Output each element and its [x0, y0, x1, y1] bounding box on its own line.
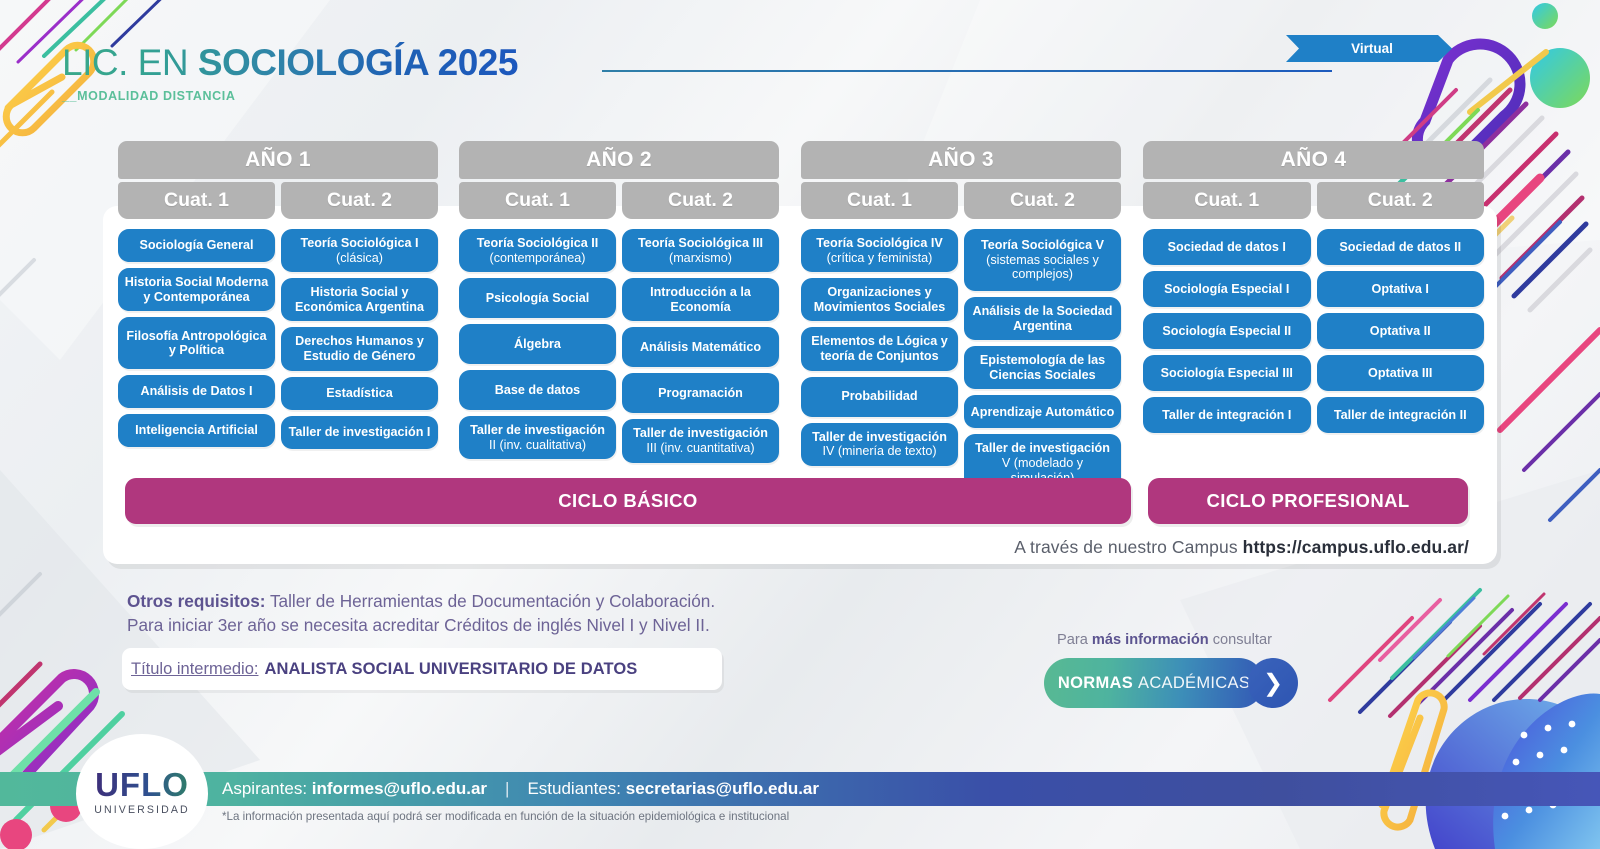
subject-sub: (contemporánea) — [477, 251, 599, 266]
subject-main: Teoría Sociológica V — [981, 238, 1104, 252]
subject-main: Introducción a la Economía — [650, 285, 751, 314]
subject-sub: IV (minería de texto) — [812, 444, 947, 459]
footer-separator: | — [487, 779, 527, 799]
semester-columns-1: Sociología General Historia Social Moder… — [118, 229, 438, 449]
semester-header-1-2: Cuat. 2 — [281, 182, 438, 219]
year-column-3: AÑO 3 Cuat. 1 Cuat. 2 Teoría Sociológica… — [801, 141, 1121, 492]
semester-header-4-1: Cuat. 1 — [1143, 182, 1311, 219]
intermediate-degree-box: Título intermedio:ANALISTA SOCIAL UNIVER… — [122, 648, 722, 690]
subject-sub: (sistemas sociales y complejos) — [970, 253, 1115, 282]
uflo-logo: UFLO UNIVERSIDAD — [76, 734, 208, 849]
subject-main: Taller de investigación — [633, 426, 768, 440]
semester-header-3-1: Cuat. 1 — [801, 182, 958, 219]
subject-main: Inteligencia Artificial — [135, 423, 258, 437]
subject-box[interactable]: Teoría Sociológica IV(crítica y feminist… — [801, 229, 958, 272]
uflo-logo-main: UFLO — [95, 768, 189, 801]
virtual-badge-label: Virtual — [1286, 35, 1452, 62]
subject-box[interactable]: Análisis de Datos I — [118, 375, 275, 408]
subject-main: Optativa III — [1368, 366, 1432, 380]
subject-main: Derechos Humanos y Estudio de Género — [295, 334, 424, 363]
subject-box[interactable]: Sociología Especial I — [1143, 271, 1311, 307]
subject-box[interactable]: Optativa II — [1317, 313, 1485, 349]
subject-main: Sociedad de datos I — [1168, 240, 1286, 254]
requirements-label: Otros requisitos: — [127, 591, 265, 611]
subject-box[interactable]: Estadística — [281, 377, 438, 410]
semester-column-1-2: Teoría Sociológica I(clásica) Historia S… — [281, 229, 438, 449]
more-info-post: consultar — [1209, 632, 1272, 648]
semester-column-3-2: Teoría Sociológica V(sistemas sociales y… — [964, 229, 1121, 492]
poster-canvas: LIC. EN SOCIOLOGÍA 2025 __MODALIDAD DIST… — [0, 0, 1600, 849]
subject-box[interactable]: Psicología Social — [459, 278, 616, 318]
subject-main: Análisis de la Sociedad Argentina — [973, 304, 1113, 333]
semester-column-4-2: Sociedad de datos II Optativa I Optativa… — [1317, 229, 1485, 433]
page-title: LIC. EN SOCIOLOGÍA 2025 — [62, 42, 518, 84]
subject-main: Sociología Especial I — [1164, 282, 1289, 296]
year-title-1: AÑO 1 — [118, 141, 438, 179]
footer-estudiantes-mail[interactable]: secretarias@uflo.edu.ar — [626, 779, 819, 798]
chevron-right-icon[interactable]: ❯ — [1248, 658, 1298, 708]
campus-line: A través de nuestro Campus https://campu… — [0, 537, 1469, 558]
subject-box[interactable]: Análisis de la Sociedad Argentina — [964, 297, 1121, 340]
requirements-block: Otros requisitos: Taller de Herramientas… — [127, 590, 715, 637]
subject-main: Taller de investigación I — [289, 425, 431, 439]
virtual-badge: Virtual — [1286, 35, 1452, 62]
subject-main: Álgebra — [514, 337, 561, 351]
subject-box[interactable]: Sociedad de datos I — [1143, 229, 1311, 265]
year-column-4: AÑO 4 Cuat. 1 Cuat. 2 Sociedad de datos … — [1143, 141, 1484, 433]
subject-box[interactable]: Organizaciones y Movimientos Sociales — [801, 278, 958, 321]
year-title-2: AÑO 2 — [459, 141, 779, 179]
semester-header-1-1: Cuat. 1 — [118, 182, 275, 219]
title-bold: SOCIOLOGÍA 2025 — [198, 42, 518, 83]
subject-box[interactable]: Optativa III — [1317, 355, 1485, 391]
subject-main: Sociología Especial II — [1162, 324, 1291, 338]
academic-rules-bold: NORMAS — [1058, 674, 1133, 693]
subject-main: Optativa I — [1372, 282, 1429, 296]
subject-sub: III (inv. cuantitativa) — [633, 441, 768, 456]
subject-box[interactable]: Historia Social y Económica Argentina — [281, 278, 438, 321]
title-light: LIC. EN — [62, 42, 198, 83]
subject-box[interactable]: Taller de investigaciónIV (minería de te… — [801, 423, 958, 466]
requirements-line-2: Para iniciar 3er año se necesita acredit… — [127, 614, 715, 638]
more-info-line: Para más información consultar — [1057, 632, 1272, 648]
subject-main: Taller de investigación — [975, 441, 1110, 455]
subject-box[interactable]: Elementos de Lógica y teoría de Conjunto… — [801, 327, 958, 370]
page-header: LIC. EN SOCIOLOGÍA 2025 __MODALIDAD DIST… — [62, 42, 518, 103]
subject-main: Aprendizaje Automático — [971, 405, 1115, 419]
subject-box[interactable]: Introducción a la Economía — [622, 278, 779, 321]
semester-header-4-2: Cuat. 2 — [1317, 182, 1485, 219]
requirements-text-1: Taller de Herramientas de Documentación … — [265, 591, 715, 611]
subject-main: Sociología General — [139, 238, 253, 252]
subject-main: Taller de integración I — [1162, 408, 1291, 422]
cycle-bar-basic: CICLO BÁSICO — [125, 478, 1131, 524]
subject-box[interactable]: Sociología Especial III — [1143, 355, 1311, 391]
subject-box[interactable]: Programación — [622, 373, 779, 413]
semester-headers-2: Cuat. 1 Cuat. 2 — [459, 182, 779, 219]
subject-main: Historia Social Moderna y Contemporánea — [125, 275, 268, 304]
subject-box[interactable]: Filosofía Antropológica y Política — [118, 317, 275, 369]
semester-columns-3: Teoría Sociológica IV(crítica y feminist… — [801, 229, 1121, 492]
page-subtitle: __MODALIDAD DISTANCIA — [62, 89, 518, 103]
subject-main: Base de datos — [495, 383, 580, 397]
subject-box[interactable]: Inteligencia Artificial — [118, 414, 275, 447]
semester-header-3-2: Cuat. 2 — [964, 182, 1121, 219]
subject-main: Estadística — [326, 386, 393, 400]
subject-box[interactable]: Optativa I — [1317, 271, 1485, 307]
cycle-bar-professional: CICLO PROFESIONAL — [1148, 478, 1468, 524]
subject-box[interactable]: Epistemología de las Ciencias Sociales — [964, 346, 1121, 389]
subject-box[interactable]: Taller de integración II — [1317, 397, 1485, 433]
subject-main: Organizaciones y Movimientos Sociales — [814, 285, 946, 314]
title-divider — [602, 70, 1332, 72]
subject-box[interactable]: Derechos Humanos y Estudio de Género — [281, 327, 438, 370]
subject-main: Análisis de Datos I — [141, 384, 253, 398]
subject-main: Teoría Sociológica IV — [816, 236, 942, 250]
subject-box[interactable]: Álgebra — [459, 324, 616, 364]
subject-main: Probabilidad — [841, 389, 917, 403]
subject-box[interactable]: Teoría Sociológica I(clásica) — [281, 229, 438, 272]
footer-contacts: Aspirantes: informes@uflo.edu.ar|Estudia… — [222, 779, 819, 799]
subject-box[interactable]: Teoría Sociológica III(marxismo) — [622, 229, 779, 272]
intermediate-degree-value: ANALISTA SOCIAL UNIVERSITARIO DE DATOS — [264, 660, 637, 679]
subject-box[interactable]: Teoría Sociológica II(contemporánea) — [459, 229, 616, 272]
subject-main: Taller de investigación — [812, 430, 947, 444]
semester-column-4-1: Sociedad de datos I Sociología Especial … — [1143, 229, 1311, 433]
subject-box[interactable]: Teoría Sociológica V(sistemas sociales y… — [964, 229, 1121, 291]
intermediate-degree-label: Título intermedio: — [131, 660, 258, 679]
academic-rules-button[interactable]: NORMASACADÉMICAS — [1044, 658, 1264, 708]
subject-box[interactable]: Sociología Especial II — [1143, 313, 1311, 349]
semester-columns-4: Sociedad de datos I Sociología Especial … — [1143, 229, 1484, 433]
subject-main: Taller de investigación — [470, 423, 605, 437]
campus-url[interactable]: https://campus.uflo.edu.ar/ — [1243, 537, 1469, 557]
subject-main: Programación — [658, 386, 743, 400]
subject-main: Sociología Especial III — [1161, 366, 1293, 380]
footer-aspirantes-mail[interactable]: informes@uflo.edu.ar — [312, 779, 487, 798]
subject-main: Epistemología de las Ciencias Sociales — [980, 353, 1105, 382]
footer-disclaimer: *La información presentada aquí podrá se… — [222, 810, 789, 823]
semester-headers-3: Cuat. 1 Cuat. 2 — [801, 182, 1121, 219]
semester-header-2-2: Cuat. 2 — [622, 182, 779, 219]
subject-sub: (marxismo) — [638, 251, 763, 266]
year-column-1: AÑO 1 Cuat. 1 Cuat. 2 Sociología General… — [118, 141, 438, 449]
subject-box[interactable]: Historia Social Moderna y Contemporánea — [118, 268, 275, 311]
subject-main: Análisis Matemático — [640, 340, 761, 354]
uflo-logo-sub: UNIVERSIDAD — [94, 804, 190, 816]
subject-main: Teoría Sociológica II — [477, 236, 599, 250]
year-title-3: AÑO 3 — [801, 141, 1121, 179]
academic-rules-group: NORMASACADÉMICAS ❯ — [1044, 658, 1300, 708]
semester-column-1-1: Sociología General Historia Social Moder… — [118, 229, 275, 449]
year-title-4: AÑO 4 — [1143, 141, 1484, 179]
requirements-line-1: Otros requisitos: Taller de Herramientas… — [127, 590, 715, 614]
subject-main: Historia Social y Económica Argentina — [295, 285, 424, 314]
subject-sub: (crítica y feminista) — [816, 251, 942, 266]
subject-main: Teoría Sociológica III — [638, 236, 763, 250]
semester-column-2-2: Teoría Sociológica III(marxismo) Introdu… — [622, 229, 779, 463]
subject-sub: II (inv. cualitativa) — [470, 438, 605, 453]
subject-box[interactable]: Sociología General — [118, 229, 275, 262]
campus-prefix: A través de nuestro Campus — [1014, 537, 1242, 557]
footer-aspirantes-label: Aspirantes: — [222, 779, 312, 798]
semester-column-2-1: Teoría Sociológica II(contemporánea) Psi… — [459, 229, 616, 463]
subject-main: Sociedad de datos II — [1339, 240, 1461, 254]
subject-box[interactable]: Análisis Matemático — [622, 327, 779, 367]
semester-columns-2: Teoría Sociológica II(contemporánea) Psi… — [459, 229, 779, 463]
more-info-bold: más información — [1092, 632, 1209, 648]
subject-box[interactable]: Taller de investigaciónIII (inv. cuantit… — [622, 419, 779, 462]
subject-box[interactable]: Taller de investigación I — [281, 416, 438, 449]
more-info-pre: Para — [1057, 632, 1092, 648]
subject-box[interactable]: Base de datos — [459, 370, 616, 410]
subject-box[interactable]: Sociedad de datos II — [1317, 229, 1485, 265]
year-column-2: AÑO 2 Cuat. 1 Cuat. 2 Teoría Sociológica… — [459, 141, 779, 463]
subject-main: Elementos de Lógica y teoría de Conjunto… — [811, 334, 947, 363]
subject-box[interactable]: Taller de integración I — [1143, 397, 1311, 433]
semester-headers-4: Cuat. 1 Cuat. 2 — [1143, 182, 1484, 219]
footer-estudiantes-label: Estudiantes: — [527, 779, 625, 798]
footer-contact-bar: Aspirantes: informes@uflo.edu.ar|Estudia… — [0, 772, 1600, 806]
subject-sub: (clásica) — [300, 251, 418, 266]
subject-main: Optativa II — [1370, 324, 1431, 338]
subject-box[interactable]: Probabilidad — [801, 377, 958, 417]
subject-box[interactable]: Aprendizaje Automático — [964, 395, 1121, 428]
semester-headers-1: Cuat. 1 Cuat. 2 — [118, 182, 438, 219]
subject-main: Taller de integración II — [1334, 408, 1467, 422]
semester-column-3-1: Teoría Sociológica IV(crítica y feminist… — [801, 229, 958, 492]
subject-main: Psicología Social — [486, 291, 590, 305]
academic-rules-light: ACADÉMICAS — [1138, 674, 1250, 693]
subject-main: Teoría Sociológica I — [300, 236, 418, 250]
subject-main: Filosofía Antropológica y Política — [126, 329, 266, 358]
subject-box[interactable]: Taller de investigaciónII (inv. cualitat… — [459, 416, 616, 459]
semester-header-2-1: Cuat. 1 — [459, 182, 616, 219]
